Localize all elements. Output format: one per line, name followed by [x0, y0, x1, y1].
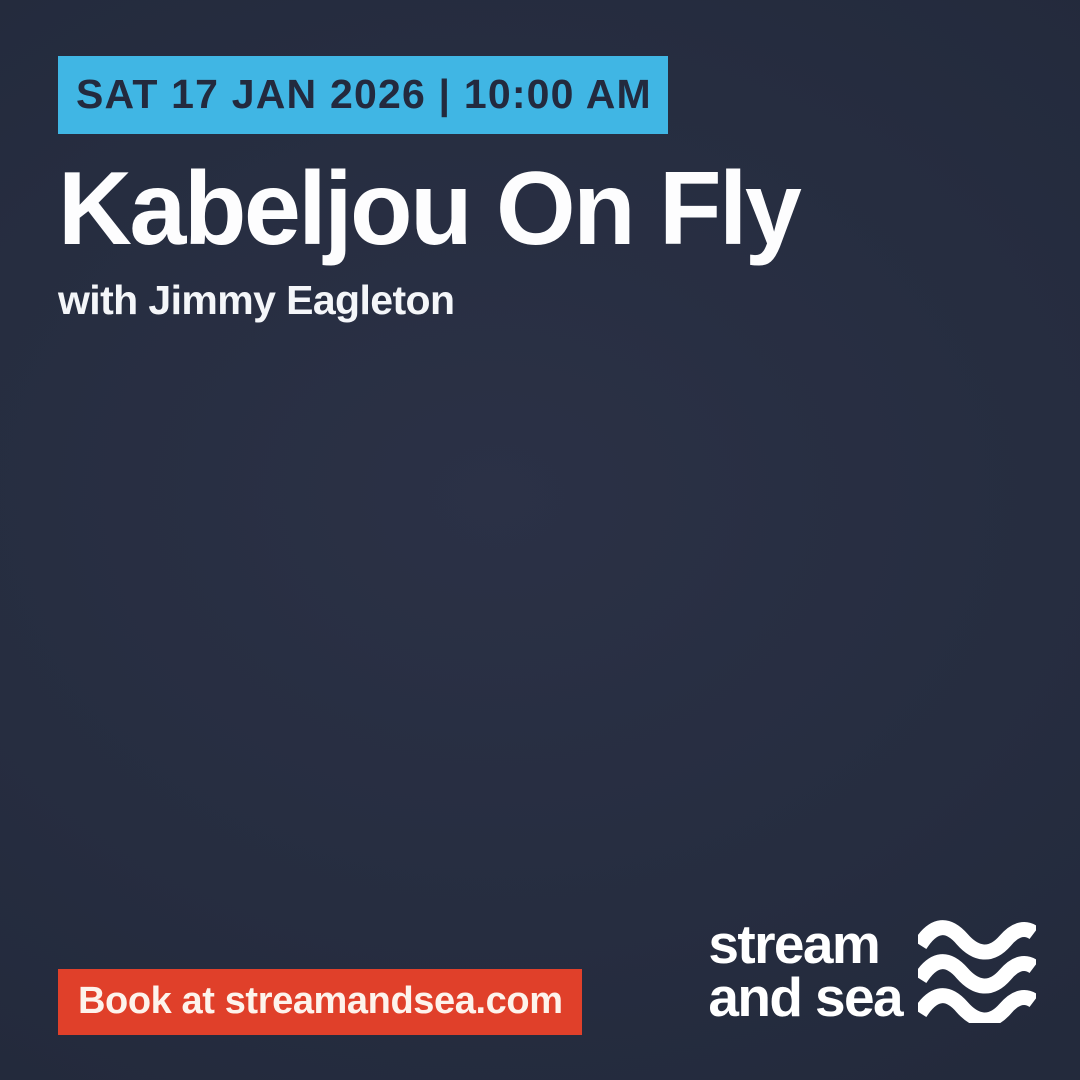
event-date-banner: SAT 17 JAN 2026 | 10:00 AM	[58, 56, 668, 134]
brand-logo: stream and sea	[708, 918, 1036, 1025]
event-title: Kabeljou On Fly	[58, 156, 984, 262]
brand-wordmark: stream and sea	[708, 918, 902, 1025]
event-presenter: with Jimmy Eagleton	[58, 280, 998, 321]
wave-icon	[918, 919, 1036, 1023]
event-poster: SAT 17 JAN 2026 | 10:00 AM Kabeljou On F…	[0, 0, 1080, 1080]
poster-header: SAT 17 JAN 2026 | 10:00 AM Kabeljou On F…	[58, 56, 998, 321]
booking-cta-button[interactable]: Book at streamandsea.com	[58, 969, 582, 1035]
brand-wordmark-line-2: and sea	[708, 971, 902, 1024]
brand-wordmark-line-1: stream	[708, 918, 902, 971]
